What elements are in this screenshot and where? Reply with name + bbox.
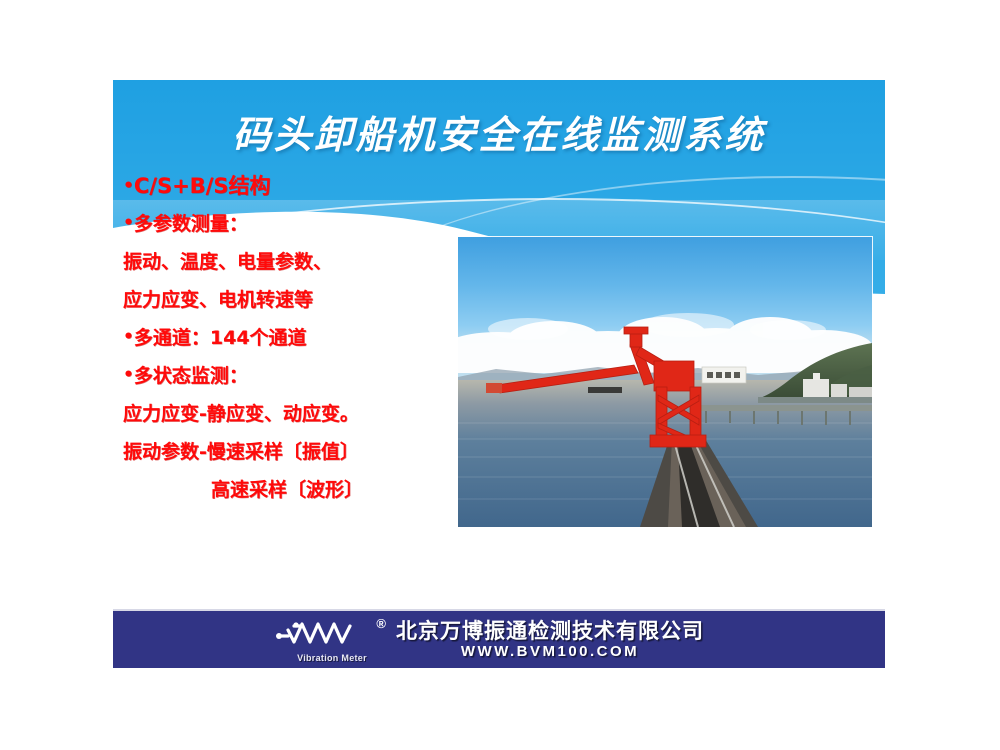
bullet-marker: • xyxy=(123,176,134,196)
registered-trademark-icon: ® xyxy=(376,616,386,631)
list-item: 应力应变-静应变、动应变。 xyxy=(123,395,473,433)
company-url[interactable]: WWW.BVM100.COM xyxy=(461,644,639,660)
list-item-label: 应力应变-静应变、动应变。 xyxy=(123,403,359,425)
company-name: 北京万博振通检测技术有限公司 xyxy=(396,620,704,642)
pier-ship-unloader-photo xyxy=(458,237,872,527)
logo-caption: Vibration Meter xyxy=(282,653,382,663)
list-item-label: 多通道：144个通道 xyxy=(134,327,307,349)
list-item-label: 多状态监测： xyxy=(134,365,248,387)
list-item: 振动、温度、电量参数、 xyxy=(123,243,473,281)
list-item-label: 多参数测量： xyxy=(134,213,248,235)
list-item: •C/S+B/S结构 xyxy=(123,168,473,205)
bullet-marker: • xyxy=(123,327,134,347)
list-item: •多参数测量： xyxy=(123,205,473,243)
list-item: 应力应变、电机转速等 xyxy=(123,281,473,319)
vibration-meter-logo-icon: ® Vibration Meter xyxy=(274,618,382,662)
list-item-label: C/S+B/S结构 xyxy=(134,174,271,198)
presentation-slide: 码头卸船机安全在线监测系统 •C/S+B/S结构 •多参数测量： 振动、温度、电… xyxy=(113,80,885,668)
page-title: 码头卸船机安全在线监测系统 xyxy=(113,104,885,159)
list-item: •多状态监测： xyxy=(123,357,473,395)
list-item-label: 应力应变、电机转速等 xyxy=(123,289,313,311)
footer-bar: ® Vibration Meter 北京万博振通检测技术有限公司 WWW.BVM… xyxy=(113,609,885,668)
bullet-list: •C/S+B/S结构 •多参数测量： 振动、温度、电量参数、 应力应变、电机转速… xyxy=(123,168,473,509)
list-item-label: 高速采样〔波形〕 xyxy=(211,479,363,501)
waveform-vm-icon xyxy=(274,618,382,652)
list-item-label: 振动参数-慢速采样〔振值〕 xyxy=(123,441,359,463)
list-item: •多通道：144个通道 xyxy=(123,319,473,357)
list-item: 振动参数-慢速采样〔振值〕 xyxy=(123,433,473,471)
bullet-marker: • xyxy=(123,213,134,233)
list-item-label: 振动、温度、电量参数、 xyxy=(123,251,332,273)
footer-brand-group: ® Vibration Meter 北京万博振通检测技术有限公司 WWW.BVM… xyxy=(274,618,704,662)
footer-text-group: 北京万博振通检测技术有限公司 WWW.BVM100.COM xyxy=(396,620,704,660)
photo-artwork xyxy=(458,237,872,527)
bullet-marker: • xyxy=(123,365,134,385)
list-item: 高速采样〔波形〕 xyxy=(123,471,473,509)
